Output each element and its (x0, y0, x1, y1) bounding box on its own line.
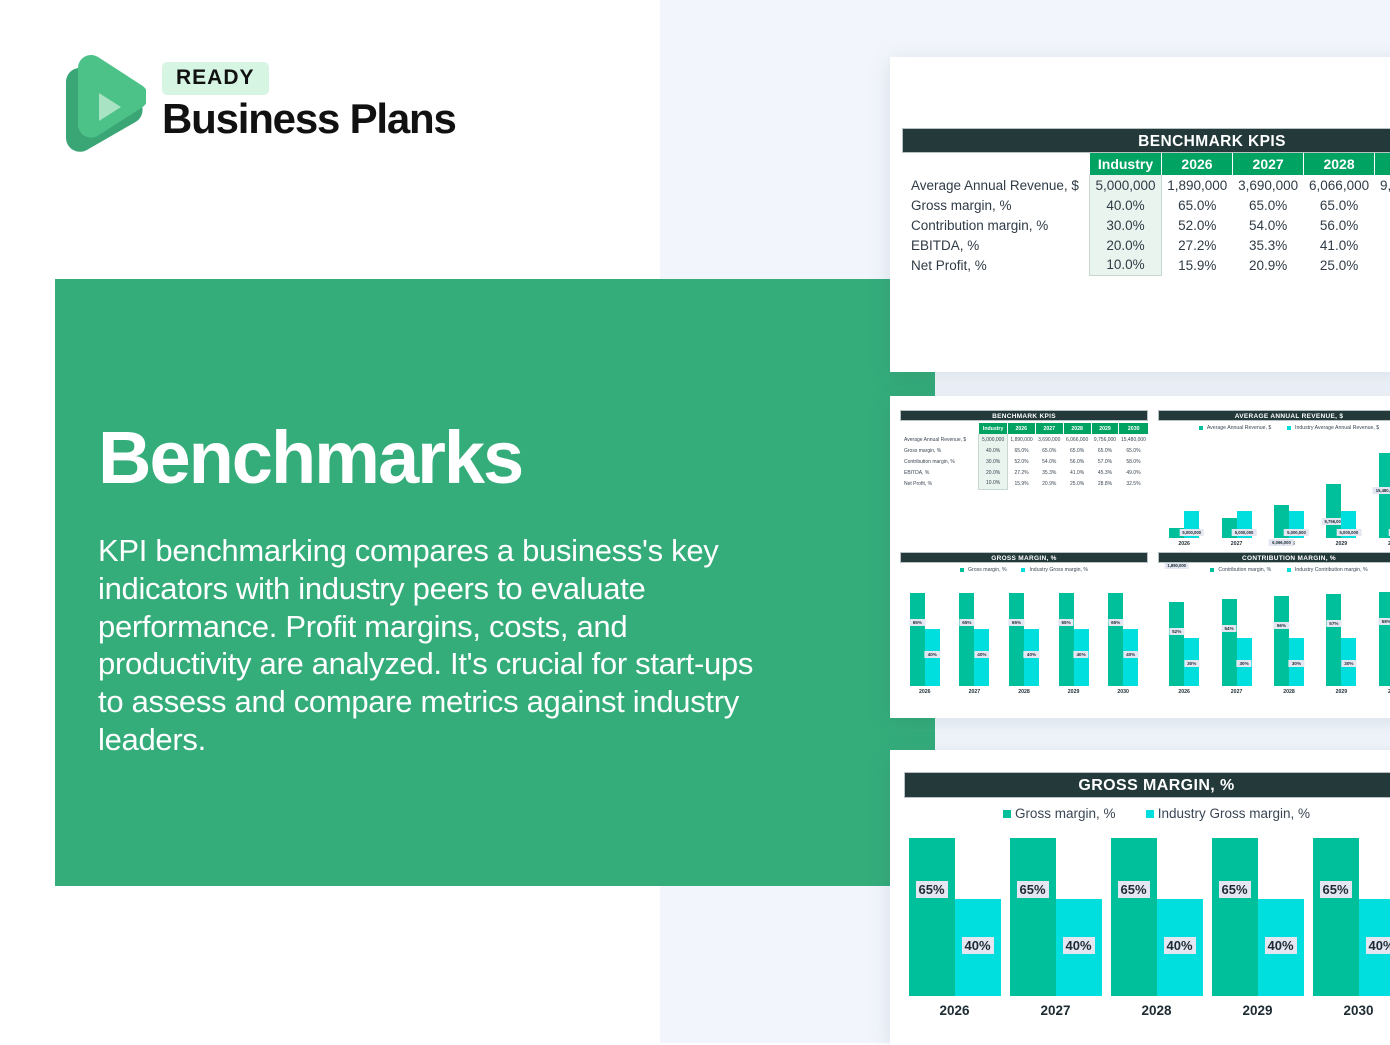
year-value: 35.3% (1035, 467, 1063, 478)
mini-chart-title-band: CONTRIBUTION MARGIN, % (1158, 552, 1390, 563)
year-value: 20.9% (1035, 478, 1063, 489)
table-corner (900, 423, 979, 434)
bar-company: 56% (1274, 596, 1289, 686)
year-value: 27.2% (1007, 467, 1035, 478)
kpi-table-panel: BENCHMARK KPIS Industry20262027202820292… (890, 57, 1390, 372)
bar-value-label: 54% (1221, 625, 1236, 632)
chart-legend: Average Annual Revenue, $ Industry Avera… (1158, 425, 1390, 431)
table-title-band: BENCHMARK KPIS (902, 128, 1390, 153)
row-label: EBITDA, % (900, 467, 979, 478)
bar-group: 65%40%2029 (1212, 826, 1304, 1018)
year-value: 3,690,000 (1233, 175, 1304, 195)
column-header: 2026 (1007, 423, 1035, 434)
bar-group: 58%30%2030 (1379, 586, 1390, 695)
bar-industry: 40% (1157, 899, 1203, 996)
hero-panel: Benchmarks KPI benchmarking compares a b… (55, 279, 935, 886)
legend-label: Industry Average Annual Revenue, $ (1295, 425, 1379, 431)
row-label: Net Profit, % (900, 478, 979, 489)
bar-group: 56%30%2028 (1274, 586, 1304, 695)
bar-group: 65%40%2027 (959, 586, 989, 695)
bar-value-label: 65% (1016, 881, 1048, 898)
x-axis-label: 2028 (1111, 1003, 1203, 1018)
bar-value-label: 6,066,000 (1269, 539, 1294, 546)
brand-logo: READY Business Plans (58, 52, 456, 152)
mini-chart-title-band: AVERAGE ANNUAL REVENUE, $ (1158, 410, 1390, 421)
bar-value-label: 65% (1009, 619, 1024, 626)
x-axis-label: 2028 (1283, 689, 1295, 695)
year-value: 65.0% (1091, 445, 1119, 456)
x-axis-label: 2027 (1231, 689, 1243, 695)
bar-company: 65% (1111, 838, 1157, 996)
row-label: Gross margin, % (900, 445, 979, 456)
industry-value: 10.0% (979, 478, 1007, 489)
revenue-chart-mini: AVERAGE ANNUAL REVENUE, $ Average Annual… (1158, 410, 1390, 558)
row-label: Gross margin, % (902, 195, 1090, 215)
bar-value-label: 65% (1218, 881, 1250, 898)
year-value: 65.0% (1007, 445, 1035, 456)
bar-company: 65% (1010, 838, 1056, 996)
x-axis-label: 2028 (1018, 689, 1030, 695)
bar-value-label: 40% (1264, 937, 1296, 954)
chart-bars: 1,890,0005,000,00020263,690,0005,000,000… (1158, 435, 1390, 547)
column-header: Industry (1090, 153, 1162, 175)
bar-industry: 30% (1184, 638, 1199, 686)
bar-industry: 5,000,000 (1289, 511, 1304, 539)
chart-bars: 52%30%202654%30%202756%30%202857%30%2029… (1158, 577, 1390, 695)
industry-value: 5,000,000 (979, 434, 1007, 445)
row-label: Average Annual Revenue, $ (900, 434, 979, 445)
table-row: Gross margin, %40.0%65.0%65.0%65.0%65.0%… (902, 195, 1390, 215)
bar-value-label: 56% (1274, 622, 1289, 629)
year-value: 28.8% (1091, 478, 1119, 489)
year-value: 65.0% (1161, 195, 1232, 215)
bar-group: 1,890,0005,000,0002026 (1169, 450, 1199, 547)
bar-value-label: 40% (1365, 937, 1390, 954)
gross-margin-chart-mini: GROSS MARGIN, % Gross margin, % Industry… (900, 552, 1148, 702)
bar-value-label: 5,000,000 (1284, 529, 1309, 536)
year-value: 56.0% (1304, 215, 1375, 235)
contribution-margin-chart-mini: CONTRIBUTION MARGIN, % Contribution marg… (1158, 552, 1390, 702)
bar-value-label: 5,000,000 (1337, 529, 1362, 536)
table-corner (902, 153, 1090, 175)
chart-legend: Contribution margin, % Industry Contribu… (1158, 567, 1390, 573)
year-value: 65.0% (1375, 195, 1390, 215)
x-axis-label: 2027 (1231, 541, 1243, 547)
column-header: 2029 (1375, 153, 1390, 175)
year-value: 58.0% (1119, 456, 1148, 467)
bar-value-label: 57% (1326, 620, 1341, 627)
year-value: 54.0% (1233, 215, 1304, 235)
legend-label: Contribution margin, % (1218, 567, 1271, 573)
bar-value-label: 40% (1123, 651, 1138, 658)
bar-value-label: 40% (1163, 937, 1195, 954)
column-header: 2030 (1119, 423, 1148, 434)
bar-company: 65% (1009, 593, 1024, 686)
bar-industry: 40% (1074, 629, 1089, 686)
hero-description: KPI benchmarking compares a business's k… (98, 532, 763, 759)
bar-company: 65% (1059, 593, 1074, 686)
bar-industry: 40% (925, 629, 940, 686)
bar-industry: 40% (1056, 899, 1102, 996)
row-label: EBITDA, % (902, 235, 1090, 255)
year-value: 9,756,000 (1375, 175, 1390, 195)
bar-company: 54% (1222, 599, 1237, 686)
year-value: 65.0% (1063, 445, 1091, 456)
row-label: Contribution margin, % (902, 215, 1090, 235)
bar-industry: 40% (955, 899, 1001, 996)
year-value: 15.9% (1007, 478, 1035, 489)
chart-legend: Gross margin, % Industry Gross margin, % (900, 567, 1148, 573)
play-triangle-logo-icon (58, 52, 146, 152)
year-value: 20.9% (1233, 255, 1304, 275)
x-axis-label: 2026 (1178, 541, 1190, 547)
column-header: Industry (979, 423, 1007, 434)
ready-badge: READY (162, 62, 269, 95)
bar-industry: 30% (1289, 638, 1304, 686)
bar-value-label: 65% (1058, 619, 1073, 626)
year-value: 65.0% (1119, 445, 1148, 456)
bar-group: 57%30%2029 (1326, 586, 1356, 695)
bar-industry: 30% (1341, 638, 1356, 686)
year-value: 35.3% (1233, 235, 1304, 255)
industry-value: 10.0% (1090, 255, 1162, 275)
table-row: Net Profit, %10.0%15.9%20.9%25.0%28.8%32… (902, 255, 1390, 275)
table-row: EBITDA, %20.0%27.2%35.3%41.0%45.3%49.0% (902, 235, 1390, 255)
bar-value-label: 65% (1319, 881, 1351, 898)
bar-industry: 40% (1359, 899, 1390, 996)
bar-value-label: 65% (915, 881, 947, 898)
bar-industry: 5,000,000 (1237, 511, 1252, 539)
bar-company: 52% (1169, 602, 1184, 686)
x-axis-label: 2029 (1336, 689, 1348, 695)
kpi-table-mini: Industry20262027202820292030 Average Ann… (900, 423, 1148, 490)
year-value: 32.5% (1119, 478, 1148, 489)
bar-group: 54%30%2027 (1222, 586, 1252, 695)
bar-value-label: 15,480,000 (1373, 487, 1390, 494)
bar-industry: 40% (1258, 899, 1304, 996)
chart-bars: 65%40%202665%40%202765%40%202865%40%2029… (900, 577, 1148, 695)
industry-value: 40.0% (979, 445, 1007, 456)
bar-company: 65% (1212, 838, 1258, 996)
bar-group: 65%40%2027 (1010, 826, 1102, 1018)
bar-group: 15,480,0005,000,0002030 (1379, 450, 1390, 547)
bar-company: 65% (1313, 838, 1359, 996)
column-header: 2026 (1161, 153, 1232, 175)
industry-value: 40.0% (1090, 195, 1162, 215)
bar-group: 65%40%2030 (1313, 826, 1390, 1018)
gross-margin-panel-large: GROSS MARGIN, % Gross margin, % Industry… (890, 750, 1390, 1045)
year-value: 57.0% (1091, 456, 1119, 467)
x-axis-label: 2027 (1010, 1003, 1102, 1018)
bar-group: 52%30%2026 (1169, 586, 1199, 695)
year-value: 25.0% (1063, 478, 1091, 489)
year-value: 52.0% (1007, 456, 1035, 467)
table-row: Gross margin, %40.0%65.0%65.0%65.0%65.0%… (900, 445, 1148, 456)
table-row: EBITDA, %20.0%27.2%35.3%41.0%45.3%49.0% (900, 467, 1148, 478)
year-value: 1,890,000 (1007, 434, 1035, 445)
year-value: 41.0% (1063, 467, 1091, 478)
bar-value-label: 5,000,000 (1179, 529, 1204, 536)
bar-value-label: 40% (1062, 937, 1094, 954)
year-value: 15,480,000 (1119, 434, 1148, 445)
column-header: 2028 (1063, 423, 1091, 434)
x-axis-label: 2026 (909, 1003, 1001, 1018)
table-row: Net Profit, %10.0%15.9%20.9%25.0%28.8%32… (900, 478, 1148, 489)
bar-company: 65% (910, 593, 925, 686)
bar-group: 6,066,0005,000,0002028 (1274, 450, 1304, 547)
year-value: 27.2% (1161, 235, 1232, 255)
year-value: 6,066,000 (1304, 175, 1375, 195)
year-value: 28.8% (1375, 255, 1390, 275)
table-row: Contribution margin, %30.0%52.0%54.0%56.… (902, 215, 1390, 235)
legend-label: Industry Gross margin, % (1029, 567, 1088, 573)
bar-company: 65% (909, 838, 955, 996)
row-label: Average Annual Revenue, $ (902, 175, 1090, 195)
dashboard-overview-panel: BENCHMARK KPIS Industry20262027202820292… (890, 396, 1390, 718)
industry-value: 5,000,000 (1090, 175, 1162, 195)
legend-label: Average Annual Revenue, $ (1207, 425, 1272, 431)
year-value: 15.9% (1161, 255, 1232, 275)
bar-group: 3,690,0005,000,0002027 (1222, 450, 1252, 547)
bar-value-label: 65% (910, 619, 925, 626)
benchmark-kpis-table-mini: BENCHMARK KPIS Industry20262027202820292… (900, 410, 1148, 490)
year-value: 25.0% (1304, 255, 1375, 275)
industry-value: 20.0% (1090, 235, 1162, 255)
industry-value: 30.0% (1090, 215, 1162, 235)
chart-title-band: GROSS MARGIN, % (904, 772, 1390, 798)
bar-company: 65% (1108, 593, 1123, 686)
bar-group: 65%40%2026 (909, 826, 1001, 1018)
page-title: Benchmarks (98, 421, 522, 495)
column-header: 2029 (1091, 423, 1119, 434)
bar-value-label: 65% (1117, 881, 1149, 898)
brand-name: Business Plans (162, 97, 456, 141)
year-value: 65.0% (1035, 445, 1063, 456)
bar-value-label: 40% (961, 937, 993, 954)
bar-value-label: 30% (1184, 660, 1199, 667)
industry-value: 30.0% (979, 456, 1007, 467)
row-label: Contribution margin, % (900, 456, 979, 467)
table-row: Average Annual Revenue, $5,000,0001,890,… (902, 175, 1390, 195)
bar-industry: 40% (1024, 629, 1039, 686)
x-axis-label: 2030 (1117, 689, 1129, 695)
bar-value-label: 40% (1024, 651, 1039, 658)
year-value: 52.0% (1161, 215, 1232, 235)
table-row: Average Annual Revenue, $5,000,0001,890,… (900, 434, 1148, 445)
chart-bars: 65%40%202665%40%202765%40%202865%40%2029… (904, 818, 1390, 1018)
bar-value-label: 40% (1073, 651, 1088, 658)
year-value: 54.0% (1035, 456, 1063, 467)
bar-value-label: 40% (974, 651, 989, 658)
industry-value: 20.0% (979, 467, 1007, 478)
x-axis-label: 2026 (919, 689, 931, 695)
mini-table-title-band: BENCHMARK KPIS (900, 410, 1148, 421)
bar-group: 65%40%2028 (1111, 826, 1203, 1018)
table-row: Contribution margin, %30.0%52.0%54.0%56.… (900, 456, 1148, 467)
bar-industry: 30% (1237, 638, 1252, 686)
bar-company: 15,480,000 (1379, 453, 1390, 538)
mini-chart-title-band: GROSS MARGIN, % (900, 552, 1148, 563)
bar-industry: 40% (1123, 629, 1138, 686)
year-value: 45.3% (1091, 467, 1119, 478)
bar-value-label: 65% (1108, 619, 1123, 626)
year-value: 3,690,000 (1035, 434, 1063, 445)
x-axis-label: 2029 (1336, 541, 1348, 547)
bar-value-label: 65% (959, 619, 974, 626)
bar-value-label: 58% (1379, 618, 1390, 625)
year-value: 49.0% (1119, 467, 1148, 478)
bar-company: 65% (959, 593, 974, 686)
benchmark-kpis-table-large: BENCHMARK KPIS Industry20262027202820292… (902, 128, 1390, 276)
column-header: 2027 (1233, 153, 1304, 175)
bar-value-label: 30% (1289, 660, 1304, 667)
legend-label: Industry Contribution margin, % (1295, 567, 1368, 573)
x-axis-label: 2029 (1212, 1003, 1304, 1018)
year-value: 6,066,000 (1063, 434, 1091, 445)
bar-group: 9,756,0005,000,0002029 (1326, 450, 1356, 547)
year-value: 45.3% (1375, 235, 1390, 255)
x-axis-label: 2027 (969, 689, 981, 695)
bar-company: 57% (1326, 594, 1341, 686)
bar-group: 65%40%2026 (910, 586, 940, 695)
year-value: 9,756,000 (1091, 434, 1119, 445)
bar-group: 65%40%2030 (1108, 586, 1138, 695)
year-value: 65.0% (1304, 195, 1375, 215)
bar-group: 65%40%2028 (1009, 586, 1039, 695)
bar-industry: 5,000,000 (1341, 511, 1356, 539)
bar-value-label: 5,000,000 (1232, 529, 1257, 536)
bar-industry: 5,000,000 (1184, 511, 1199, 539)
brand-wordmark: READY Business Plans (162, 62, 456, 141)
x-axis-label: 2029 (1068, 689, 1080, 695)
x-axis-label: 2030 (1313, 1003, 1390, 1018)
legend-label: Gross margin, % (968, 567, 1007, 573)
row-label: Net Profit, % (902, 255, 1090, 275)
bar-group: 65%40%2029 (1059, 586, 1089, 695)
year-value: 65.0% (1233, 195, 1304, 215)
bar-value-label: 30% (1236, 660, 1251, 667)
column-header: 2027 (1035, 423, 1063, 434)
bar-industry: 40% (974, 629, 989, 686)
bar-value-label: 52% (1169, 628, 1184, 635)
kpi-table-large: Industry20262027202820292030 Average Ann… (902, 153, 1390, 276)
column-header: 2028 (1304, 153, 1375, 175)
year-value: 41.0% (1304, 235, 1375, 255)
year-value: 56.0% (1063, 456, 1091, 467)
x-axis-label: 2026 (1178, 689, 1190, 695)
table-header-row: Industry20262027202820292030 (902, 153, 1390, 175)
year-value: 57.0% (1375, 215, 1390, 235)
bar-value-label: 40% (925, 651, 940, 658)
year-value: 1,890,000 (1161, 175, 1232, 195)
bar-company: 58% (1379, 592, 1390, 686)
bar-value-label: 30% (1341, 660, 1356, 667)
